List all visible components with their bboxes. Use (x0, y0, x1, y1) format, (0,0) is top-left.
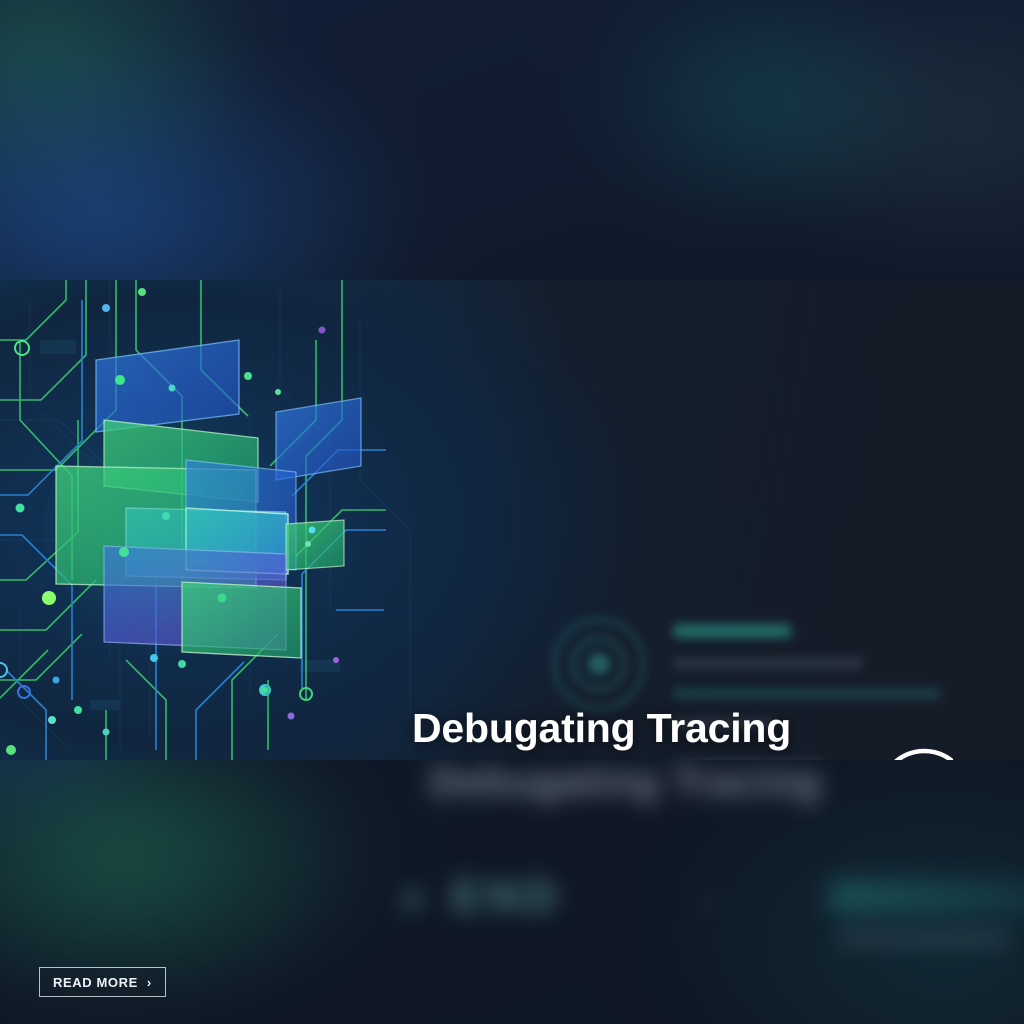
concentric-rings-icon (553, 618, 645, 710)
ghost-arrow-icon: → (690, 880, 722, 917)
bg-heading-line (673, 624, 791, 638)
read-more-label: READ MORE (53, 975, 138, 990)
ghost-title-text: Debugating Tracing (430, 760, 821, 805)
title-line-1: Debugating Tracing (412, 704, 842, 753)
ghost-end-text: END (452, 872, 563, 922)
ghost-bar (830, 880, 1024, 914)
title-line-2: Reload Format (412, 753, 842, 760)
chevron-right-icon: › (147, 975, 152, 990)
read-more-button[interactable]: READ MORE › (39, 967, 166, 997)
artwork-glow (6, 370, 336, 690)
banner-title: Debugating Tracing Reload Format Layer: … (412, 704, 842, 760)
page-root: Debugating Tracing » END → (0, 0, 1024, 1024)
hero-banner: Debugating Tracing Reload Format Layer: … (0, 280, 1024, 760)
bg-body-line (673, 688, 941, 699)
bg-body-line (673, 658, 863, 669)
circle-check-icon (867, 742, 983, 760)
ghost-bar-secondary (838, 930, 1008, 946)
status-badge: PROBLEM SOLVED (855, 742, 995, 760)
ghost-chevron-icon: » (400, 872, 424, 922)
circuit-board-artwork (0, 280, 386, 760)
